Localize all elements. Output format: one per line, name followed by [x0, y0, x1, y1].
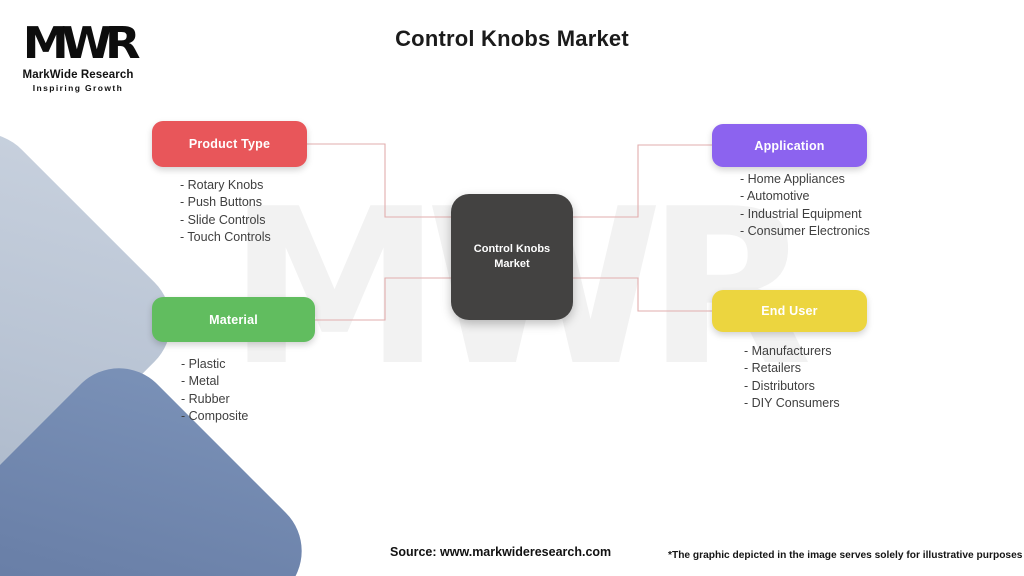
- list-item: - Home Appliances: [740, 171, 870, 188]
- logo-tagline: Inspiring Growth: [18, 84, 138, 93]
- page-title: Control Knobs Market: [0, 26, 1024, 52]
- connector-product-type: [307, 144, 452, 217]
- list-item: - Distributors: [744, 378, 840, 395]
- list-item: - Rotary Knobs: [180, 177, 271, 194]
- branch-node-label: Material: [209, 313, 258, 327]
- list-item: - Manufacturers: [744, 343, 840, 360]
- branch-node-label: Application: [754, 139, 824, 153]
- disclaimer-note: *The graphic depicted in the image serve…: [668, 550, 1022, 561]
- branch-items-application: - Home Appliances - Automotive - Industr…: [740, 171, 870, 240]
- branch-items-material: - Plastic - Metal - Rubber - Composite: [181, 356, 248, 425]
- decorative-shape-dark: [0, 346, 324, 576]
- list-item: - Metal: [181, 373, 248, 390]
- connector-end-user: [572, 278, 712, 311]
- logo-company-name: MarkWide Research: [18, 70, 138, 82]
- list-item: - DIY Consumers: [744, 395, 840, 412]
- list-item: - Industrial Equipment: [740, 206, 870, 223]
- list-item: - Retailers: [744, 360, 840, 377]
- branch-node-end-user[interactable]: End User: [712, 290, 867, 332]
- branch-node-product-type[interactable]: Product Type: [152, 121, 307, 167]
- branch-items-end-user: - Manufacturers - Retailers - Distributo…: [744, 343, 840, 412]
- center-node-control-knobs-market[interactable]: Control KnobsMarket: [451, 194, 573, 320]
- connector-application: [572, 145, 712, 217]
- source-credit: Source: www.markwideresearch.com: [390, 545, 611, 559]
- list-item: - Slide Controls: [180, 212, 271, 229]
- list-item: - Plastic: [181, 356, 248, 373]
- branch-node-label: End User: [761, 304, 817, 318]
- branch-node-label: Product Type: [189, 137, 270, 151]
- branch-items-product-type: - Rotary Knobs - Push Buttons - Slide Co…: [180, 177, 271, 246]
- list-item: - Rubber: [181, 391, 248, 408]
- branch-node-material[interactable]: Material: [152, 297, 315, 342]
- center-node-label: Control KnobsMarket: [474, 242, 550, 272]
- connector-material: [315, 278, 452, 320]
- list-item: - Composite: [181, 408, 248, 425]
- branch-node-application[interactable]: Application: [712, 124, 867, 167]
- list-item: - Push Buttons: [180, 194, 271, 211]
- list-item: - Automotive: [740, 188, 870, 205]
- control-knobs-market-infographic: { "header": { "title": "Control Knobs Ma…: [0, 0, 1024, 576]
- list-item: - Touch Controls: [180, 229, 271, 246]
- list-item: - Consumer Electronics: [740, 223, 870, 240]
